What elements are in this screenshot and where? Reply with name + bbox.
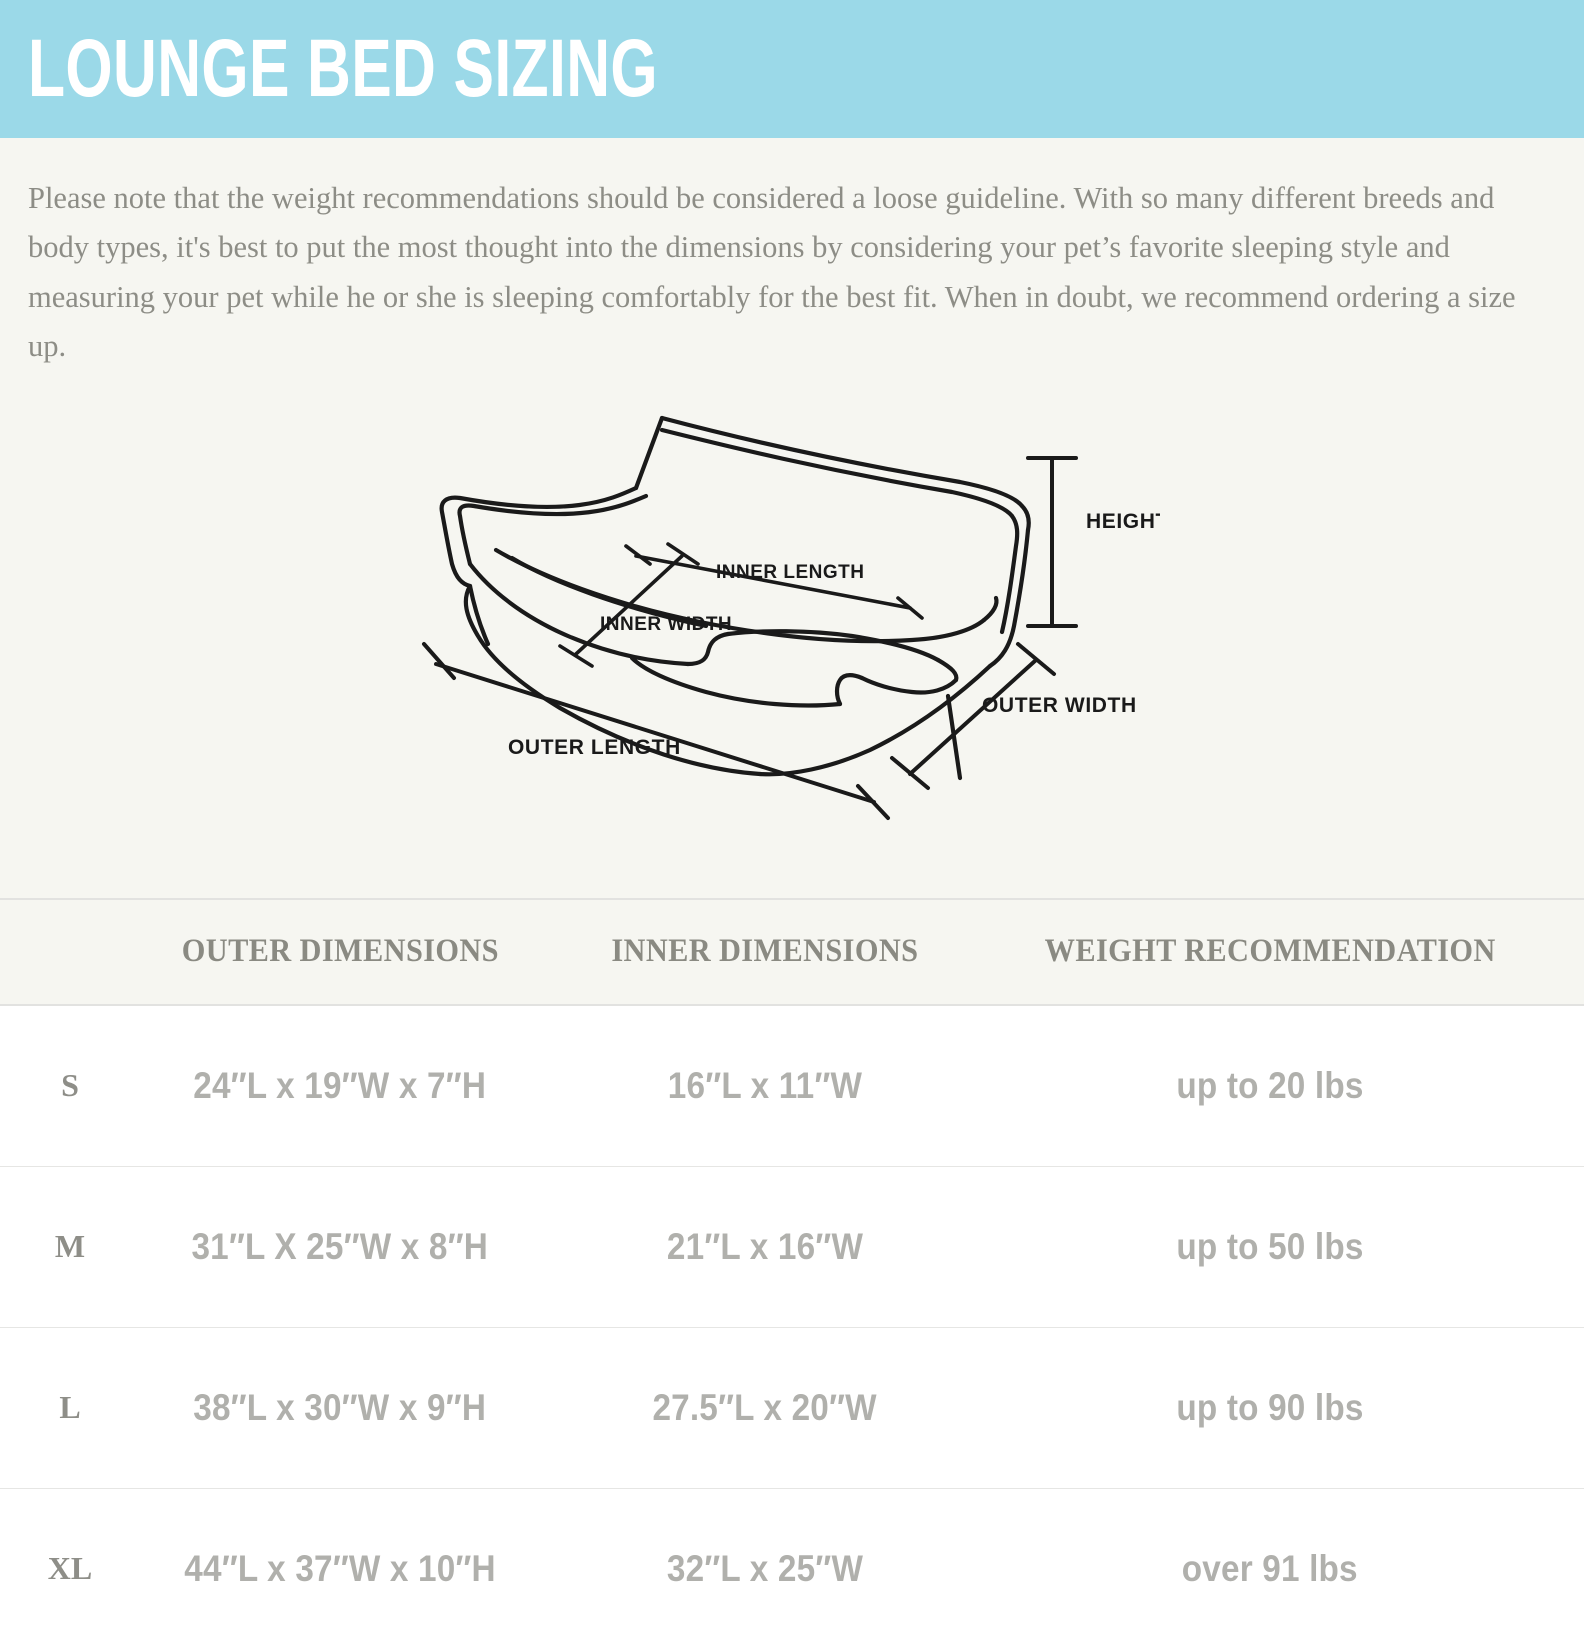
header-cell-outer-dimensions: OUTER DIMENSIONS [140,900,540,1004]
outer-length-dimension-line [436,664,874,802]
bed-diagram: HEIGHT OUTER WIDTH OUTER LENGTH [400,378,1160,848]
cell-outer-dimensions: 44″L x 37″W x 10″H [140,1489,540,1649]
sizing-chart-page: LOUNGE BED SIZING Please note that the w… [0,0,1584,1596]
intro-section: Please note that the weight recommendati… [0,138,1584,378]
intro-paragraph: Please note that the weight recommendati… [28,174,1536,372]
page-banner: LOUNGE BED SIZING [0,0,1584,138]
outer-length-label: OUTER LENGTH [508,736,681,759]
cell-size: XL [0,1489,140,1649]
header-cell-weight-recommendation: WEIGHT RECOMMENDATION [1010,900,1530,1004]
cell-inner-dimensions: 32″L x 25″W [565,1489,965,1649]
cell-inner-dimensions: 16″L x 11″W [565,1006,965,1166]
cell-size: L [0,1328,140,1488]
cell-weight-recommendation: up to 50 lbs [1010,1167,1530,1327]
cell-inner-dimensions: 27.5″L x 20″W [565,1328,965,1488]
inner-width-label: INNER WIDTH [600,614,732,635]
table-row: M 31″L X 25″W x 8″H 21″L x 16″W up to 50… [0,1167,1584,1328]
diagram-section: HEIGHT OUTER WIDTH OUTER LENGTH [0,378,1584,898]
header-cell-inner-dimensions: INNER DIMENSIONS [565,900,965,1004]
table-row: S 24″L x 19″W x 7″H 16″L x 11″W up to 20… [0,1006,1584,1167]
table-row: XL 44″L x 37″W x 10″H 32″L x 25″W over 9… [0,1489,1584,1649]
cell-inner-dimensions: 21″L x 16″W [565,1167,965,1327]
cell-outer-dimensions: 38″L x 30″W x 9″H [140,1328,540,1488]
cell-weight-recommendation: up to 90 lbs [1010,1328,1530,1488]
sizing-table: OUTER DIMENSIONS INNER DIMENSIONS WEIGHT… [0,898,1584,1649]
cell-size: M [0,1167,140,1327]
height-label: HEIGHT [1086,510,1160,533]
page-title: LOUNGE BED SIZING [28,31,658,106]
cell-weight-recommendation: over 91 lbs [1010,1489,1530,1649]
cell-size: S [0,1006,140,1166]
outer-width-label: OUTER WIDTH [982,694,1137,717]
table-row: L 38″L x 30″W x 9″H 27.5″L x 20″W up to … [0,1328,1584,1489]
cell-outer-dimensions: 31″L X 25″W x 8″H [140,1167,540,1327]
inner-width-dimension-line [576,556,682,654]
header-cell-size [0,900,140,1004]
cell-outer-dimensions: 24″L x 19″W x 7″H [140,1006,540,1166]
cell-weight-recommendation: up to 20 lbs [1010,1006,1530,1166]
table-header-row: OUTER DIMENSIONS INNER DIMENSIONS WEIGHT… [0,900,1584,1006]
inner-length-label: INNER LENGTH [716,562,865,583]
